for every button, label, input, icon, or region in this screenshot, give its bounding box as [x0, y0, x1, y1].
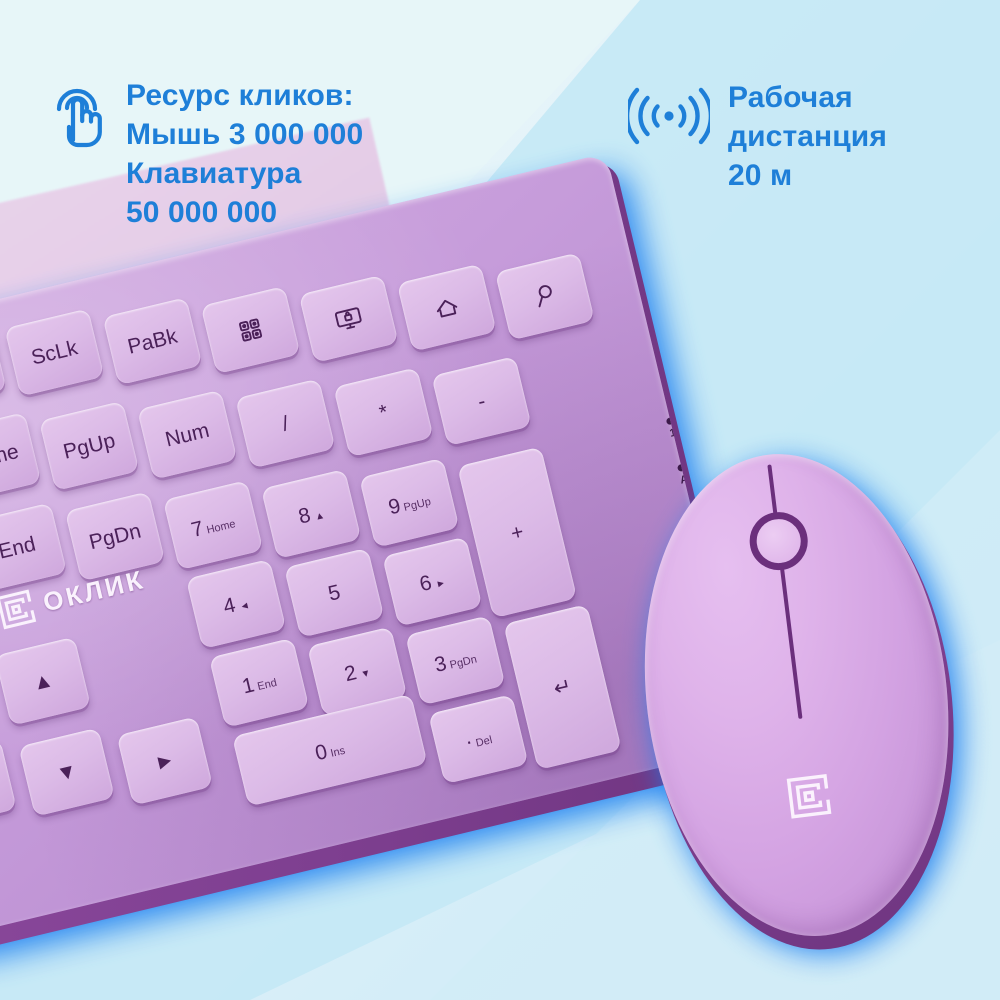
key-n6-main: 6	[417, 572, 433, 595]
key-n0-main: 0	[313, 741, 329, 764]
key-n1-main: 1	[240, 674, 256, 697]
key-arrow-down-label: ▼	[54, 760, 79, 785]
key-num-label: Num	[163, 419, 211, 450]
key-n9-main: 9	[386, 495, 402, 518]
key-star-label: *	[377, 401, 390, 423]
key-minus-label: -	[476, 390, 488, 412]
key-n4-sub: ◄	[239, 600, 251, 613]
home-icon	[431, 293, 462, 322]
key-dot-sub: Del	[475, 735, 494, 750]
key-home-label: Home	[0, 440, 21, 474]
key-pgup-label: PgUp	[61, 430, 117, 463]
mouse-button-separator[interactable]	[767, 464, 802, 719]
key-pabk-label: PaBk	[126, 325, 180, 357]
key-n6-sub: ►	[435, 577, 447, 590]
wireless-signal-icon	[628, 84, 710, 153]
key-dot-main: ·	[463, 730, 475, 752]
oklick-square-spiral-icon	[785, 772, 834, 821]
key-slash-label: /	[280, 413, 291, 435]
search-icon	[530, 281, 559, 312]
key-n4-main: 4	[221, 594, 237, 617]
mouse-scroll-wheel[interactable]	[746, 509, 811, 574]
key-n3-sub: PgDn	[449, 654, 478, 671]
feature-working-distance: Рабочая дистанция 20 м	[628, 78, 887, 195]
feature-click-resource: Ресурс кликов: Мышь 3 000 000 Клавиатура…	[46, 76, 363, 232]
key-n7-main: 7	[189, 517, 205, 540]
key-sclk-label: ScLk	[29, 337, 79, 368]
key-pgdn-label: PgDn	[87, 520, 143, 553]
key-n9-sub: PgUp	[403, 496, 432, 513]
mouse-brand-logo	[785, 772, 834, 821]
feature-click-resource-text: Ресурс кликов: Мышь 3 000 000 Клавиатура…	[126, 76, 363, 232]
key-n2-sub: ▼	[360, 667, 372, 680]
key-n0-sub: Ins	[329, 745, 346, 759]
screen-lock-icon	[332, 304, 365, 334]
key-enter-label: ↵	[551, 675, 573, 700]
key-plus-label: +	[509, 521, 526, 544]
key-n7-sub: Home	[206, 519, 237, 537]
feature-working-distance-text: Рабочая дистанция 20 м	[728, 78, 887, 195]
key-n2-main: 2	[342, 662, 358, 685]
apps-grid-icon	[236, 316, 265, 345]
key-n3-main: 3	[432, 652, 448, 675]
key-n1-sub: End	[256, 677, 278, 692]
key-n8-main: 8	[296, 504, 312, 527]
key-end-label: End	[0, 533, 38, 562]
key-arrow-up-label: ▲	[30, 669, 55, 694]
mouse[interactable]	[618, 435, 994, 978]
key-n8-sub: ▲	[314, 510, 326, 523]
key-n5-label: 5	[326, 581, 342, 604]
banner-stage: Ресурс кликов: Мышь 3 000 000 Клавиатура…	[0, 0, 1000, 1000]
key-arrow-right-label: ►	[152, 748, 177, 773]
tap-click-icon	[46, 82, 108, 153]
